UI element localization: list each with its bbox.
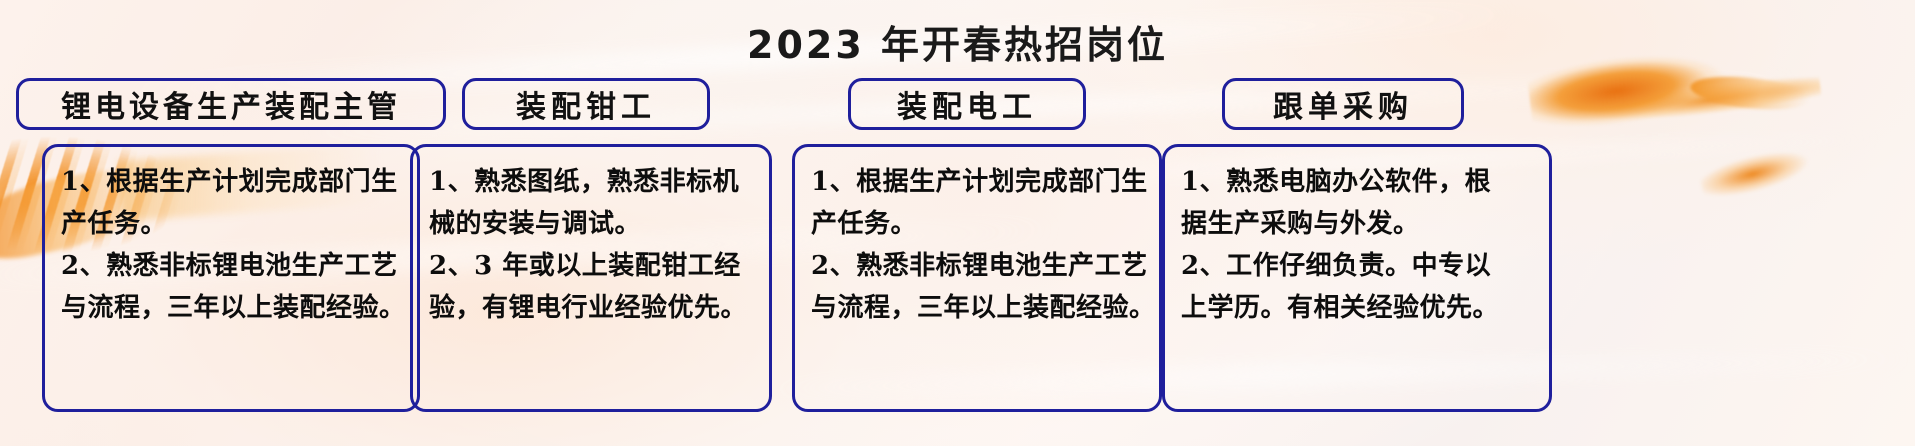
job-card-3-line-2: 产任务。 (811, 203, 1145, 245)
orange-ribbon-top-right-tail-icon (1689, 72, 1811, 114)
job-card-1-title: 锂电设备生产装配主管 (16, 78, 446, 130)
job-card-1-line-3: 2、熟悉非标锂电池生产工艺 (61, 245, 403, 287)
job-card-1-line-4: 与流程，三年以上装配经验。 (61, 287, 403, 329)
page-title: 2023 年开春热招岗位 (0, 14, 1915, 69)
job-card-2-title: 装配钳工 (462, 78, 710, 130)
job-card-4-line-3: 2、工作仔细负责。中专以 (1181, 245, 1535, 287)
job-card-4-line-1: 1、熟悉电脑办公软件，根 (1181, 161, 1535, 203)
orange-ribbon-right-small-icon (1696, 133, 1833, 209)
job-card-2-line-1: 1、熟悉图纸，熟悉非标机 (429, 161, 755, 203)
job-card-2-body: 1、熟悉图纸，熟悉非标机 械的安装与调试。 2、3 年或以上装配钳工经 验，有锂… (410, 144, 772, 412)
recruitment-poster: 2023 年开春热招岗位 1、根据生产计划完成部门生 产任务。 2、熟悉非标锂电… (0, 0, 1915, 446)
job-card-1-line-1: 1、根据生产计划完成部门生 (61, 161, 403, 203)
job-card-2: 1、熟悉图纸，熟悉非标机 械的安装与调试。 2、3 年或以上装配钳工经 验，有锂… (462, 78, 782, 338)
job-card-4: 1、熟悉电脑办公软件，根 据生产采购与外发。 2、工作仔细负责。中专以 上学历。… (1222, 78, 1582, 338)
job-card-4-body: 1、熟悉电脑办公软件，根 据生产采购与外发。 2、工作仔细负责。中专以 上学历。… (1162, 144, 1552, 412)
job-card-2-line-2: 械的安装与调试。 (429, 203, 755, 245)
job-card-3: 1、根据生产计划完成部门生 产任务。 2、熟悉非标锂电池生产工艺 与流程，三年以… (848, 78, 1188, 338)
job-card-3-body: 1、根据生产计划完成部门生 产任务。 2、熟悉非标锂电池生产工艺 与流程，三年以… (792, 144, 1162, 412)
job-card-3-line-4: 与流程，三年以上装配经验。 (811, 287, 1145, 329)
job-card-4-line-4: 上学历。有相关经验优先。 (1181, 287, 1535, 329)
job-card-1-line-2: 产任务。 (61, 203, 403, 245)
job-card-4-line-2: 据生产采购与外发。 (1181, 203, 1535, 245)
job-card-1-body: 1、根据生产计划完成部门生 产任务。 2、熟悉非标锂电池生产工艺 与流程，三年以… (42, 144, 420, 412)
job-card-3-title: 装配电工 (848, 78, 1086, 130)
job-card-2-line-3: 2、3 年或以上装配钳工经 (429, 245, 755, 287)
job-card-3-line-1: 1、根据生产计划完成部门生 (811, 161, 1145, 203)
job-card-2-line-4: 验，有锂电行业经验优先。 (429, 287, 755, 329)
job-card-3-line-3: 2、熟悉非标锂电池生产工艺 (811, 245, 1145, 287)
job-card-1: 1、根据生产计划完成部门生 产任务。 2、熟悉非标锂电池生产工艺 与流程，三年以… (16, 78, 446, 338)
job-card-4-title: 跟单采购 (1222, 78, 1464, 130)
